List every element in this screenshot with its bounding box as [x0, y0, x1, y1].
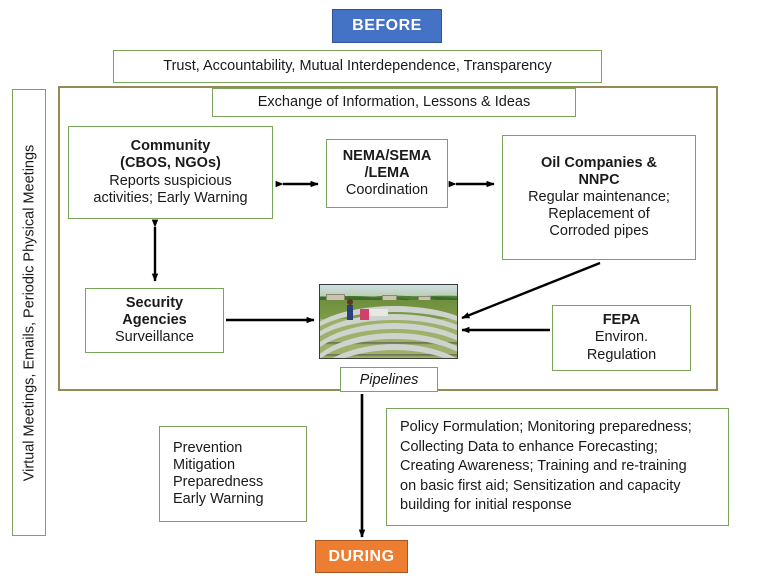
outcome-item: Mitigation	[173, 457, 235, 474]
activity-line: building for initial response	[400, 496, 572, 516]
actor-nema-title-1: NEMA/SEMA	[343, 148, 432, 165]
banner-exchange: Exchange of Information, Lessons & Ideas	[212, 88, 576, 117]
outcomes-box: Prevention Mitigation Preparedness Early…	[159, 426, 307, 522]
actor-box-nema[interactable]: NEMA/SEMA /LEMA Coordination	[326, 139, 448, 208]
side-label-communication: Virtual Meetings, Emails, Periodic Physi…	[12, 89, 46, 536]
actor-fepa-body-2: Regulation	[587, 347, 656, 364]
outcome-item: Early Warning	[173, 491, 264, 508]
actor-nema-title-2: /LEMA	[364, 165, 409, 182]
actor-box-community[interactable]: Community (CBOS, NGOs) Reports suspiciou…	[68, 126, 273, 219]
actor-oil-title-2: NNPC	[578, 172, 619, 189]
actor-oil-body-1: Regular maintenance;	[528, 189, 670, 206]
banner-exchange-text: Exchange of Information, Lessons & Ideas	[258, 94, 530, 111]
actor-nema-body-1: Coordination	[346, 182, 428, 199]
activity-line: Collecting Data to enhance Forecasting;	[400, 438, 658, 458]
activity-line: on basic first aid; Sensitization and ca…	[400, 477, 680, 497]
actor-community-body-2: activities; Early Warning	[93, 190, 247, 207]
phase-chip-before[interactable]: BEFORE	[332, 9, 442, 43]
phase-chip-during-label: DURING	[328, 548, 394, 566]
actor-security-body-1: Surveillance	[115, 329, 194, 346]
side-label-text: Virtual Meetings, Emails, Periodic Physi…	[21, 144, 37, 481]
pipelines-caption-text: Pipelines	[360, 372, 419, 388]
photo-pipe-bundle	[319, 304, 458, 359]
actor-fepa-title-1: FEPA	[603, 312, 641, 329]
actor-box-fepa[interactable]: FEPA Environ. Regulation	[552, 305, 691, 371]
actor-security-title-2: Agencies	[122, 312, 186, 329]
actor-box-oil-companies[interactable]: Oil Companies & NNPC Regular maintenance…	[502, 135, 696, 260]
actor-oil-body-2: Replacement of	[548, 206, 650, 223]
actor-community-title-2: (CBOS, NGOs)	[120, 155, 221, 172]
activities-box: Policy Formulation; Monitoring preparedn…	[386, 408, 729, 526]
outcome-item: Prevention	[173, 440, 242, 457]
photo-equipment	[366, 309, 388, 316]
pipelines-photo	[319, 284, 458, 359]
phase-chip-before-label: BEFORE	[352, 17, 422, 35]
actor-oil-title-1: Oil Companies &	[541, 155, 657, 172]
diagram-canvas: BEFORE Trust, Accountability, Mutual Int…	[0, 0, 760, 586]
actor-box-security-agencies[interactable]: Security Agencies Surveillance	[85, 288, 224, 353]
actor-community-body-1: Reports suspicious	[109, 173, 232, 190]
actor-security-title-1: Security	[126, 295, 183, 312]
outcome-item: Preparedness	[173, 474, 263, 491]
actor-oil-body-3: Corroded pipes	[549, 223, 648, 240]
activity-line: Creating Awareness; Training and re-trai…	[400, 457, 687, 477]
photo-worker	[347, 305, 353, 320]
banner-values: Trust, Accountability, Mutual Interdepen…	[113, 50, 602, 83]
photo-drum	[360, 309, 369, 320]
actor-community-title-1: Community	[131, 138, 211, 155]
pipelines-caption: Pipelines	[340, 367, 438, 392]
banner-values-text: Trust, Accountability, Mutual Interdepen…	[163, 58, 552, 75]
actor-fepa-body-1: Environ.	[595, 329, 648, 346]
activity-line: Policy Formulation; Monitoring preparedn…	[400, 418, 692, 438]
phase-chip-during[interactable]: DURING	[315, 540, 408, 573]
